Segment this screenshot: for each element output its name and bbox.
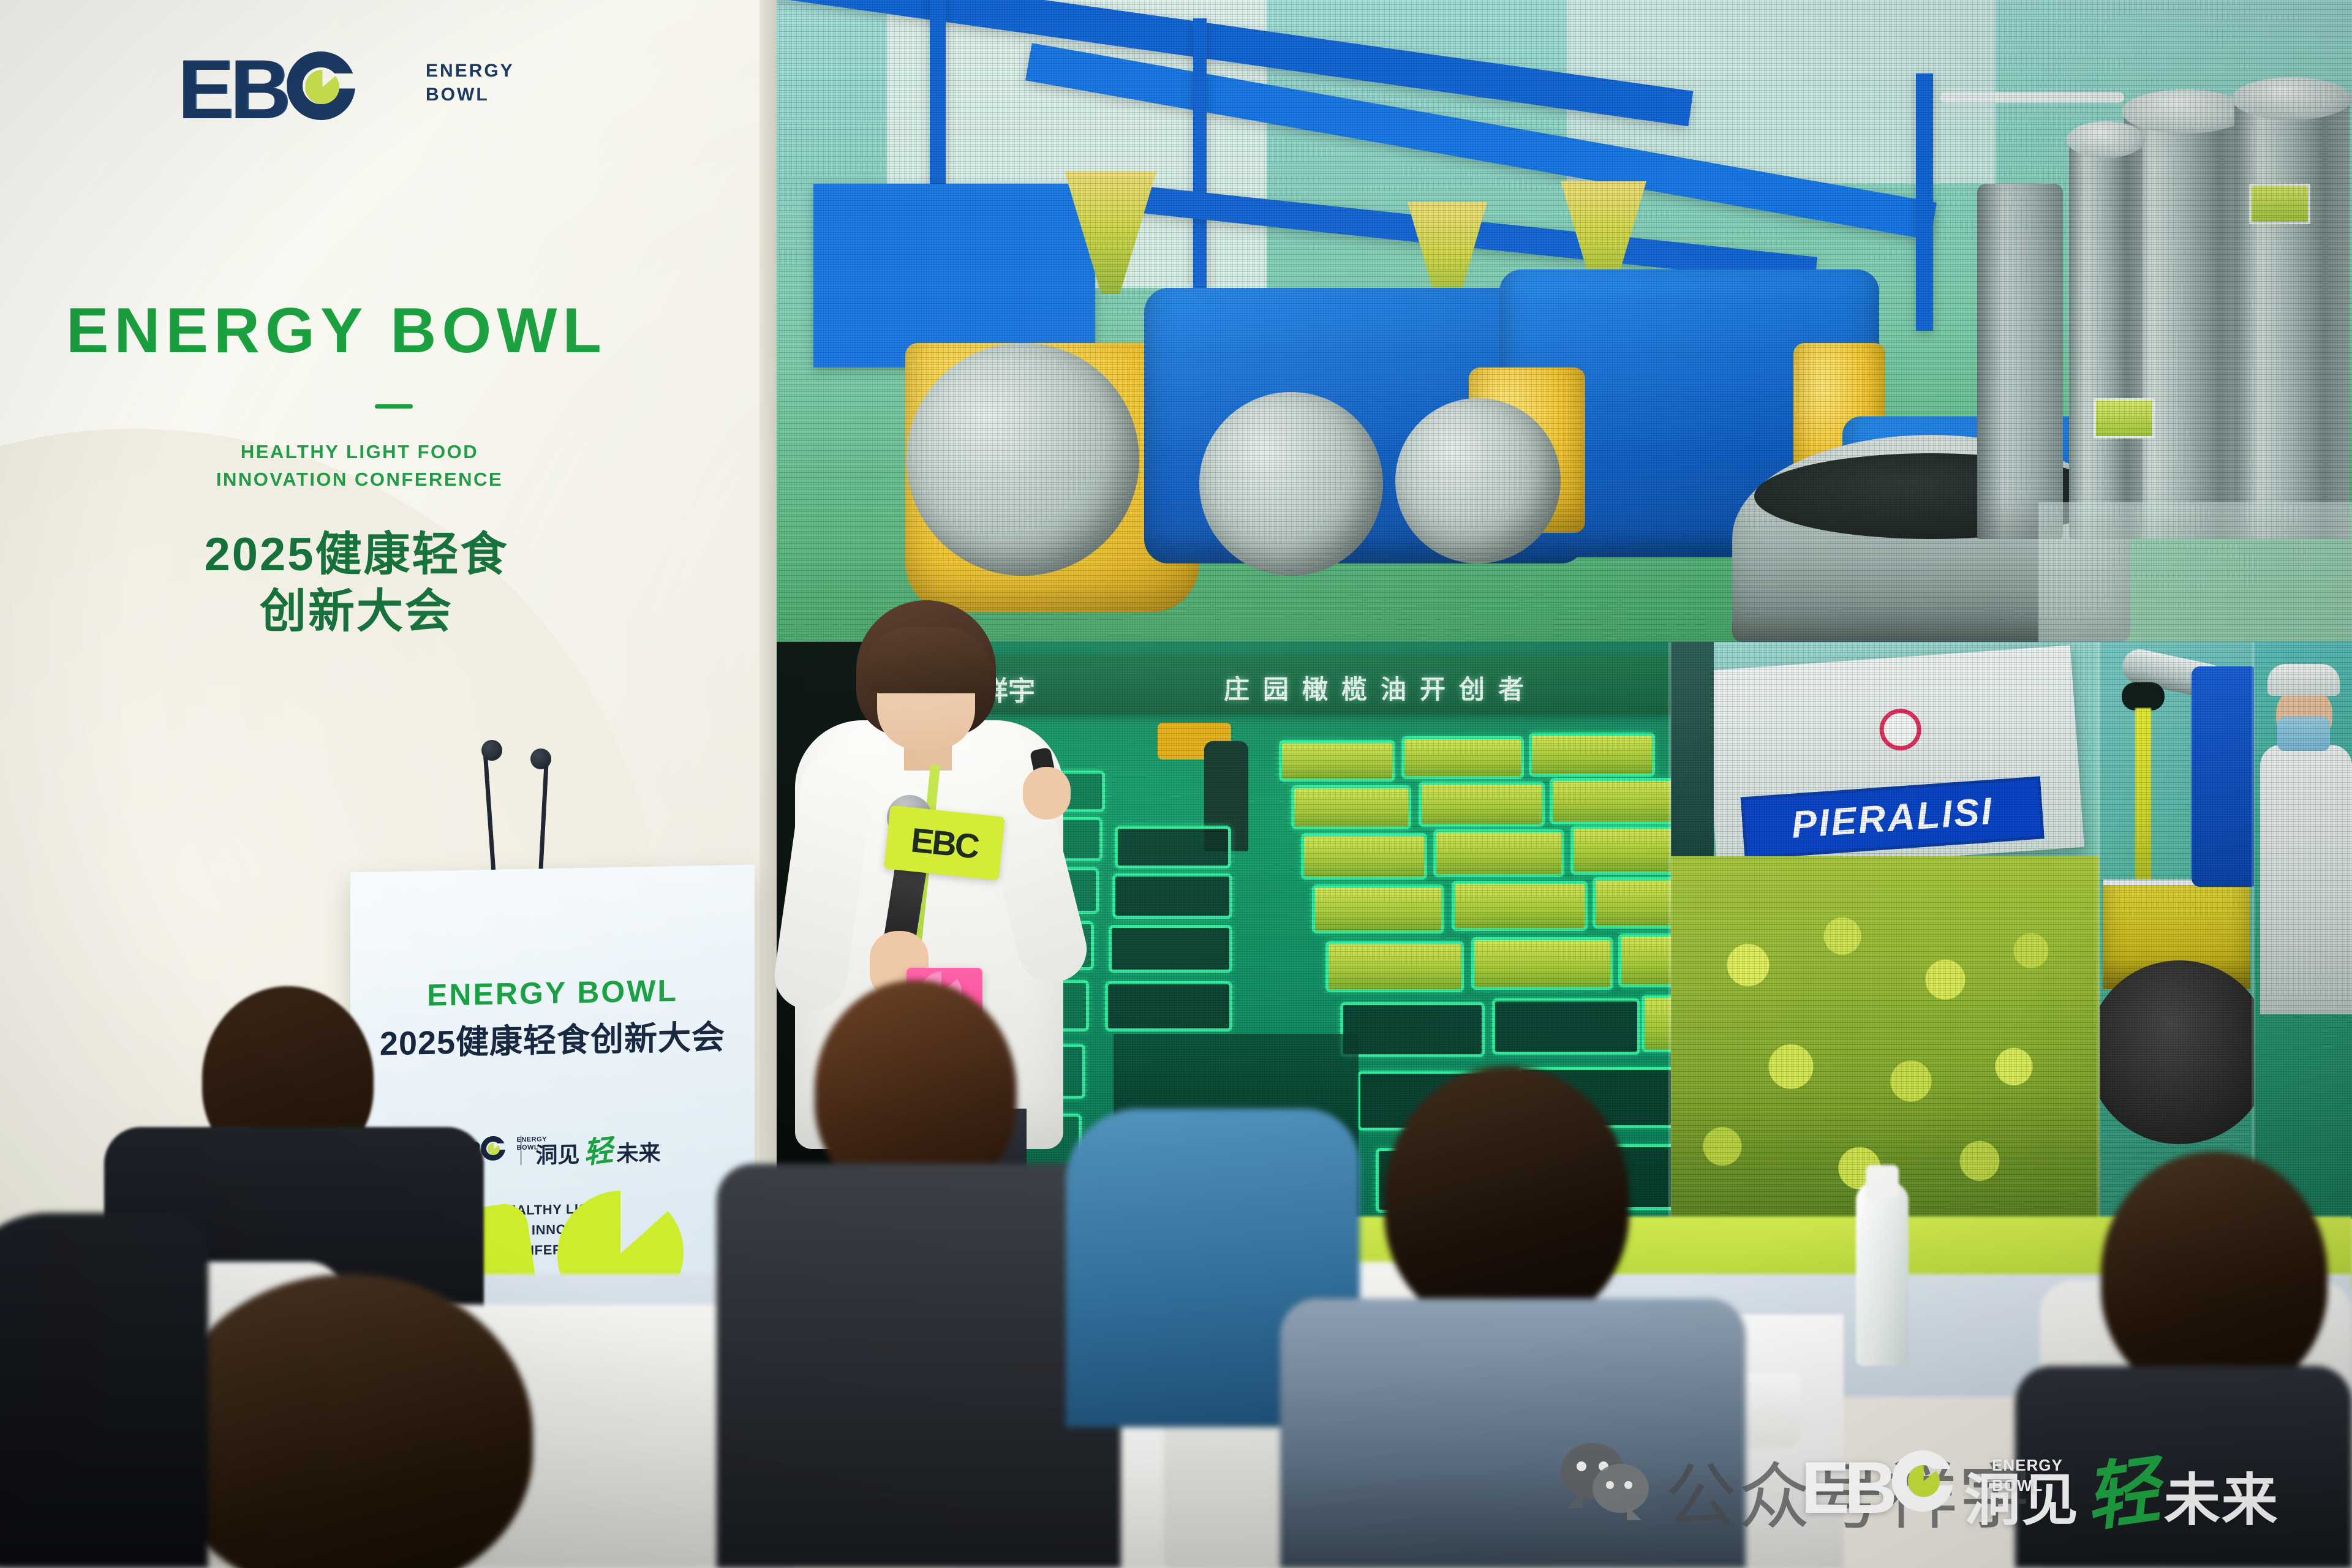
watermark-ebc-sub-line1: ENERGY [1992, 1455, 2063, 1476]
backdrop-subtitle-line2: INNOVATION CONFERENCE [216, 466, 503, 494]
oil-nozzle [2122, 682, 2165, 710]
ebc-logo-c-mark [287, 48, 359, 132]
ebc-logo-letters: EB [178, 43, 287, 137]
watermark-ebc-sub-line2: BOWL [1992, 1476, 2063, 1496]
podium-title-en: ENERGY BOWL [350, 971, 755, 1015]
pieralisi-brand-plate: PIERALISI [1741, 776, 2045, 859]
microphone-flag: EBC [884, 805, 1005, 880]
microphone-flag-label: EBC [909, 820, 979, 866]
podium-title-cn: 2025健康轻食创新大会 [350, 1009, 755, 1066]
backdrop-chinese-line1: 2025健康轻食 [160, 527, 552, 584]
oil-stream [2135, 708, 2151, 892]
photo-watermark: 公众号祥宇 EBENERGYBOWL 洞见轻未来 [1550, 1420, 2346, 1551]
backdrop-headline: ENERGY BOWL [66, 299, 607, 363]
watermark-ebc-logo: EBENERGYBOWL [1801, 1445, 1956, 1530]
worker-cap [2267, 664, 2340, 696]
headline-divider [375, 404, 413, 409]
panel-olive-oil-pour [2100, 642, 2254, 1219]
worker-face-mask [2277, 717, 2330, 751]
panel-divider-3 [2252, 642, 2255, 1219]
watermark-ebc-c-mark [1892, 1445, 1956, 1519]
water-bottle [1856, 1182, 1909, 1366]
ebc-logo-sub-line1: ENERGY [426, 59, 514, 83]
mic-capsule-right [530, 748, 551, 769]
podium-ebc-sub-line2: BOWL [517, 1144, 547, 1152]
water-bottle-cap [1866, 1165, 1899, 1199]
backdrop-english-subtitle: HEALTHY LIGHT FOOD INNOVATION CONFERENCE [216, 439, 503, 494]
podium-slogan-suffix: 未来 [616, 1136, 660, 1168]
backdrop-subtitle-line1: HEALTHY LIGHT FOOD [216, 439, 503, 466]
podium-slogan-accent: 轻 [581, 1126, 615, 1172]
panel-factory-machinery [777, 0, 2352, 642]
crates-banner-text: 庄园橄榄油开创者 [1224, 669, 1537, 706]
no-entry-warning-icon [1878, 707, 1923, 752]
conference-photo: EB ENERGY BOWL ENERGY BOWL HEALTHY LIGHT… [0, 0, 2352, 1568]
speaker-right-hand [1023, 767, 1071, 820]
watermark-pacman-icon [1908, 1465, 1940, 1497]
ebc-logo-subtext: ENERGY BOWL [426, 59, 514, 107]
mic-capsule-left [481, 740, 502, 761]
pieralisi-label: PIERALISI [1790, 789, 1995, 846]
pieralisi-machine-panel: PIERALISI [1703, 645, 2084, 872]
panel-pieralisi-press: PIERALISI [1671, 642, 2100, 1219]
watermark-brand: EBENERGYBOWL 洞见轻未来 [1801, 1434, 2279, 1541]
wechat-icon [1561, 1443, 1653, 1512]
ebc-logo: EB ENERGY BOWL [178, 48, 496, 140]
panel-factory-worker [2254, 642, 2352, 1219]
backdrop-chinese-line2: 创新大会 [160, 584, 552, 641]
watermark-ebc-subtext: ENERGYBOWL [1992, 1455, 2063, 1495]
watermark-slogan-suffix: 未来 [2164, 1455, 2279, 1536]
panel-divider-1 [1668, 642, 1672, 1219]
worker-uniform [2260, 745, 2352, 1014]
podium-slogan: 洞见轻未来 [535, 1126, 660, 1172]
podium-ebc-subtext: ENERGYBOWL [517, 1136, 547, 1152]
oil-basin [2100, 960, 2254, 1144]
podium-ebc-sub-line1: ENERGY [517, 1136, 547, 1144]
watermark-slogan-accent: 轻 [2077, 1430, 2166, 1545]
podium-ebc-c-mark [481, 1134, 507, 1163]
speaker-fringe [862, 627, 992, 693]
ebc-pacman-icon [305, 70, 339, 104]
backdrop-chinese-title: 2025健康轻食 创新大会 [160, 527, 552, 640]
panel-divider-2 [2097, 642, 2100, 1219]
watermark-ebc-letters: EB [1801, 1447, 1892, 1529]
ebc-logo-sub-line2: BOWL [426, 83, 514, 107]
